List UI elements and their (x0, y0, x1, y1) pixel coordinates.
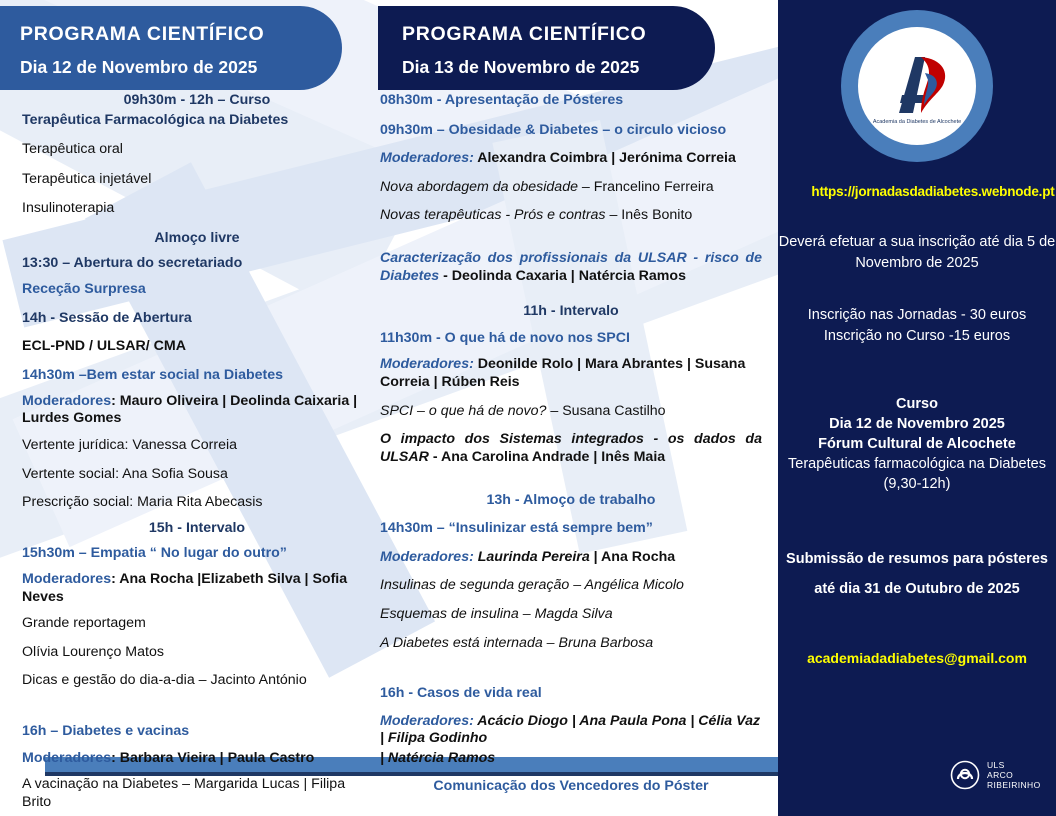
day1-spacer (22, 701, 372, 723)
day2-line-esquemas-speaker: – Magda Silva (519, 606, 613, 622)
day2-line-break-1: 11h - Intervalo (380, 303, 762, 321)
day2-line-obesidade: 09h30m – Obesidade & Diabetes – o circul… (380, 122, 762, 140)
day2-line-novas-terapeuticas: Novas terapêuticas - Prós e contras – In… (380, 207, 762, 225)
day2-line-caracterizacao-speaker: - Deolinda Caxaria | Natércia Ramos (439, 268, 686, 284)
course-date: Dia 12 de Novembro 2025 (778, 414, 1056, 434)
day2-spacer-2 (380, 296, 762, 303)
day1-line-social: Vertente social: Ana Sofia Sousa (22, 466, 372, 484)
uls-line1: ULS (987, 760, 1041, 770)
day2-moderators-3-label: Moderadores: (380, 549, 474, 565)
fee-curso: Inscrição no Curso -15 euros (778, 326, 1056, 347)
sidebar-panel: Academia da Diabetes de Alcochete https:… (778, 0, 1056, 816)
day1-moderators-3-names: : Barbara Vieira | Paula Castro (111, 750, 314, 766)
day2-line-internada: A Diabetes está internada – Bruna Barbos… (380, 635, 762, 653)
uls-wordmark: ULS ARCO RIBEIRINHO (987, 760, 1041, 790)
day2-line-nova-abordagem: Nova abordagem da obesidade – Francelino… (380, 179, 762, 197)
day1-moderators-1-label: Moderadores (22, 393, 111, 409)
day1-header-title: PROGRAMA CIENTÍFICO (20, 23, 264, 46)
day2-line-spci: 11h30m - O que há de novo nos SPCI (380, 330, 762, 348)
day2-line-nova-abordagem-title: Nova abordagem da obesidade (380, 179, 578, 195)
day2-moderators-4: Moderadores: Acácio Diogo | Ana Paula Po… (380, 713, 762, 748)
fees-block: Inscrição nas Jornadas - 30 euros Inscri… (778, 305, 1056, 346)
event-logo-inner: Academia da Diabetes de Alcochete (858, 27, 976, 145)
day2-line-internada-speaker: – Bruna Barbosa (543, 635, 653, 651)
day1-line-juridica: Vertente jurídica: Vanessa Correia (22, 437, 372, 455)
day1-line-course-time: 09h30m - 12h – Curso (22, 92, 372, 110)
poster-page: PROGRAMA CIENTÍFICO Dia 12 de Novembro d… (0, 0, 1056, 816)
day2-moderators-3: Moderadores: Laurinda Pereira | Ana Roch… (380, 549, 762, 567)
course-time: (9,30-12h) (778, 474, 1056, 494)
day2-line-insulinas-title: Insulinas de segunda geração (380, 577, 569, 593)
day1-line-entities: ECL-PND / ULSAR/ CMA (22, 338, 372, 356)
day2-line-insulinizar: 14h30m – “Insulinizar está sempre bem” (380, 520, 762, 538)
day2-line-lunch: 13h - Almoço de trabalho (380, 492, 762, 510)
website-url[interactable]: https://jornadasdadiabetes.webnode.pt (788, 184, 1056, 199)
fee-jornadas: Inscrição nas Jornadas - 30 euros (778, 305, 1056, 326)
day1-moderators-2: Moderadores: Ana Rocha |Elizabeth Silva … (22, 571, 372, 606)
day2-spacer-5 (380, 805, 762, 816)
day2-header-date: Dia 13 de Novembro de 2025 (402, 57, 639, 78)
day1-line-reportagem: Grande reportagem (22, 615, 372, 633)
day2-line-internada-title: A Diabetes está internada (380, 635, 543, 651)
day2-line-insulinas: Insulinas de segunda geração – Angélica … (380, 577, 762, 595)
day2-line-spci-novo-speaker: – Susana Castilho (546, 403, 665, 419)
day1-moderators-1: Moderadores: Mauro Oliveira | Deolinda C… (22, 393, 372, 428)
day1-line-injectable: Terapêutica injetável (22, 171, 372, 189)
day1-moderators-3-label: Moderadores (22, 750, 111, 766)
registration-deadline-line1: Deverá efetuar a sua inscrição até dia 5… (778, 232, 1056, 253)
academia-diabetes-logo-icon: Academia da Diabetes de Alcochete (869, 43, 965, 129)
day2-moderators-4-label: Moderadores: (380, 713, 474, 729)
day2-line-spci-novo-title: SPCI – o que há de novo? (380, 403, 546, 419)
day1-line-surprise: Receção Surpresa (22, 281, 372, 299)
day2-moderators-1: Moderadores: Alexandra Coimbra | Jerónim… (380, 150, 762, 168)
abstracts-line1: Submissão de resumos para pósteres (778, 544, 1056, 574)
day2-line-insulinas-speaker: – Angélica Micolo (569, 577, 684, 593)
day1-header-ribbon: PROGRAMA CIENTÍFICO Dia 12 de Novembro d… (0, 6, 342, 90)
day1-moderators-3: Moderadores: Barbara Vieira | Paula Cast… (22, 750, 372, 768)
course-subject: Terapêuticas farmacológica na Diabetes (778, 454, 1056, 474)
day2-moderators-3-name1: Laurinda Pereira (474, 549, 590, 565)
day2-line-spci-novo: SPCI – o que há de novo? – Susana Castil… (380, 403, 762, 421)
day2-line-esquemas: Esquemas de insulina – Magda Silva (380, 606, 762, 624)
day2-line-novas-terapeuticas-title: Novas terapêuticas - Prós e contras (380, 207, 606, 223)
day2-line-impacto: O impacto dos Sistemas integrados - os d… (380, 431, 762, 466)
day2-moderators-2-label: Moderadores: (380, 356, 474, 372)
day2-line-vencedores: Comunicação dos Vencedores do Póster (380, 778, 762, 796)
day1-line-oral: Terapêutica oral (22, 141, 372, 159)
day1-line-wellbeing: 14h30m –Bem estar social na Diabetes (22, 367, 372, 385)
uls-logo: ULS ARCO RIBEIRINHO (950, 760, 1041, 790)
registration-deadline-line2: Novembro de 2025 (778, 253, 1056, 274)
day2-moderators-4-cont: | Natércia Ramos (380, 750, 762, 768)
day2-line-casos: 16h - Casos de vida real (380, 685, 762, 703)
day2-moderators-1-names: Alexandra Coimbra | Jerónima Correia (474, 150, 736, 166)
day1-line-dicas: Dicas e gestão do dia-a-dia – Jacinto An… (22, 672, 372, 690)
day2-line-impacto-speaker: - Ana Carolina Andrade | Inês Maia (429, 449, 665, 465)
day2-spacer-4 (380, 663, 762, 685)
day1-program-column: 09h30m - 12h – Curso Terapêutica Farmaco… (22, 92, 372, 816)
course-block: Curso Dia 12 de Novembro 2025 Fórum Cult… (778, 394, 1056, 494)
day2-moderators-1-label: Moderadores: (380, 150, 474, 166)
day2-line-caracterizacao: Caracterização dos profissionais da ULSA… (380, 250, 762, 285)
day2-header-title: PROGRAMA CIENTÍFICO (402, 23, 646, 46)
day1-line-olivia: Olívia Lourenço Matos (22, 644, 372, 662)
day2-line-nova-abordagem-speaker: – Francelino Ferreira (578, 179, 714, 195)
day2-line-esquemas-title: Esquemas de insulina (380, 606, 519, 622)
day2-moderators-2: Moderadores: Deonilde Rolo | Mara Abrant… (380, 356, 762, 391)
day2-spacer-3 (380, 478, 762, 492)
day2-line-novas-terapeuticas-speaker: – Inês Bonito (606, 207, 693, 223)
day1-line-course-title: Terapêutica Farmacológica na Diabetes (22, 112, 372, 130)
day2-header-ribbon: PROGRAMA CIENTÍFICO Dia 13 de Novembro d… (378, 6, 715, 90)
event-logo: Academia da Diabetes de Alcochete (841, 10, 993, 162)
course-venue: Fórum Cultural de Alcochete (778, 434, 1056, 454)
day1-line-lunch: Almoço livre (22, 230, 372, 248)
uls-mark-icon (950, 760, 980, 790)
day1-line-secretariat: 13:30 – Abertura do secretariado (22, 255, 372, 273)
day1-line-break: 15h - Intervalo (22, 520, 372, 538)
day1-moderators-2-label: Moderadores (22, 571, 111, 587)
day2-line-posters: 08h30m - Apresentação de Pósteres (380, 92, 762, 110)
uls-line2: ARCO (987, 770, 1041, 780)
day2-spacer-1 (380, 236, 762, 250)
course-title: Curso (778, 394, 1056, 414)
svg-text:Academia da Diabetes de Alcoch: Academia da Diabetes de Alcochete (873, 119, 961, 125)
abstracts-line2: até dia 31 de Outubro de 2025 (778, 574, 1056, 604)
day1-line-prescricao: Prescrição social: Maria Rita Abecasis (22, 494, 372, 512)
day1-line-vacinacao: A vacinação na Diabetes – Margarida Luca… (22, 776, 372, 811)
day1-line-empatia: 15h30m – Empatia “ No lugar do outro” (22, 545, 372, 563)
abstracts-block: Submissão de resumos para pósteres até d… (778, 544, 1056, 605)
day1-header-date: Dia 12 de Novembro de 2025 (20, 57, 257, 78)
day1-line-opening: 14h - Sessão de Abertura (22, 310, 372, 328)
uls-line3: RIBEIRINHO (987, 780, 1041, 790)
day2-moderators-3-name2: | Ana Rocha (590, 549, 675, 565)
day2-program-column: 08h30m - Apresentação de Pósteres 09h30m… (380, 92, 762, 816)
day1-line-vacinas: 16h – Diabetes e vacinas (22, 723, 372, 741)
contact-email[interactable]: academiadadiabetes@gmail.com (778, 650, 1056, 666)
registration-deadline: Deverá efetuar a sua inscrição até dia 5… (778, 232, 1056, 273)
day1-line-insulin: Insulinoterapia (22, 200, 372, 218)
